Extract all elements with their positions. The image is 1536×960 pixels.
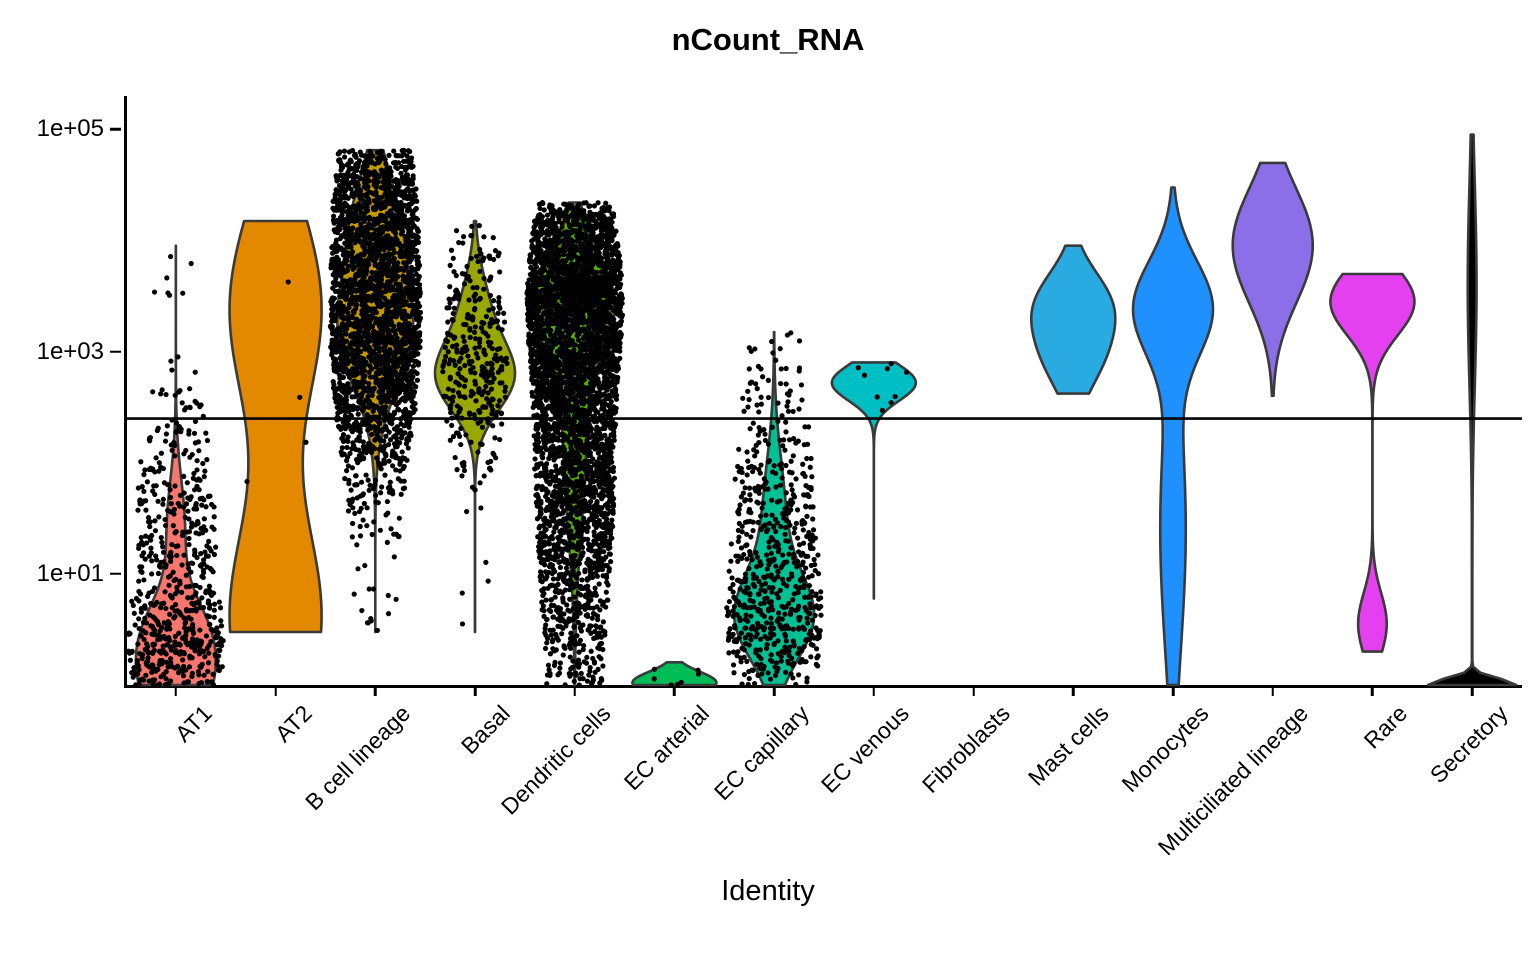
data-point bbox=[206, 601, 211, 606]
data-point bbox=[487, 256, 492, 261]
data-point bbox=[374, 370, 379, 375]
data-point bbox=[207, 494, 212, 499]
data-point bbox=[360, 492, 365, 497]
data-point bbox=[195, 637, 200, 642]
data-point bbox=[346, 315, 351, 320]
violin-body bbox=[1133, 188, 1213, 685]
data-point bbox=[466, 316, 471, 321]
data-point bbox=[499, 411, 504, 416]
data-point bbox=[450, 317, 455, 322]
data-point bbox=[330, 347, 335, 352]
data-point bbox=[394, 153, 399, 158]
data-point bbox=[440, 369, 445, 374]
data-point bbox=[356, 332, 361, 337]
data-point bbox=[406, 176, 411, 181]
data-point bbox=[149, 533, 154, 538]
data-point bbox=[333, 357, 338, 362]
data-point bbox=[374, 455, 379, 460]
data-point bbox=[378, 490, 383, 495]
data-point bbox=[365, 505, 370, 510]
data-point bbox=[161, 672, 166, 677]
data-point bbox=[169, 417, 174, 422]
data-point bbox=[353, 362, 358, 367]
data-point bbox=[176, 631, 181, 636]
data-point bbox=[145, 655, 150, 660]
data-point bbox=[448, 263, 453, 268]
data-point bbox=[405, 236, 410, 241]
data-point bbox=[448, 375, 453, 380]
violin-ec-venous[interactable] bbox=[832, 362, 916, 598]
data-point bbox=[342, 154, 347, 159]
data-point bbox=[464, 509, 469, 514]
data-point bbox=[337, 402, 342, 407]
violin-body bbox=[632, 662, 716, 685]
data-point bbox=[395, 347, 400, 352]
data-point bbox=[414, 258, 419, 263]
data-point bbox=[144, 540, 149, 545]
data-point bbox=[485, 374, 490, 379]
data-point bbox=[338, 167, 343, 172]
data-point bbox=[142, 616, 147, 621]
data-point bbox=[361, 252, 366, 257]
data-point bbox=[363, 360, 368, 365]
data-point bbox=[218, 618, 223, 623]
data-point bbox=[444, 418, 449, 423]
data-point bbox=[472, 412, 477, 417]
data-point bbox=[202, 469, 207, 474]
data-point bbox=[398, 203, 403, 208]
data-point bbox=[364, 264, 369, 269]
data-point bbox=[454, 228, 459, 233]
data-point bbox=[355, 566, 360, 571]
data-point bbox=[393, 207, 398, 212]
data-point bbox=[409, 399, 414, 404]
data-point bbox=[144, 641, 149, 646]
data-point bbox=[218, 642, 223, 647]
data-point bbox=[386, 442, 391, 447]
data-point bbox=[181, 553, 186, 558]
data-point bbox=[495, 358, 500, 363]
data-point bbox=[403, 317, 408, 322]
data-point bbox=[485, 334, 490, 339]
data-point bbox=[395, 221, 400, 226]
data-point bbox=[481, 287, 486, 292]
data-point bbox=[446, 349, 451, 354]
data-point bbox=[441, 362, 446, 367]
data-point bbox=[141, 577, 146, 582]
data-point bbox=[416, 277, 421, 282]
data-point bbox=[370, 248, 375, 253]
data-point bbox=[497, 398, 502, 403]
data-point bbox=[340, 445, 345, 450]
data-point bbox=[405, 335, 410, 340]
data-point bbox=[377, 298, 382, 303]
data-point bbox=[403, 165, 408, 170]
x-tick-mark bbox=[274, 685, 277, 696]
data-point bbox=[152, 648, 157, 653]
data-point bbox=[177, 668, 182, 673]
violin-ec-arterial[interactable] bbox=[632, 662, 716, 685]
data-point bbox=[387, 316, 392, 321]
data-point bbox=[198, 647, 203, 652]
data-point bbox=[379, 466, 384, 471]
data-point bbox=[390, 400, 395, 405]
data-point bbox=[478, 251, 483, 256]
data-point bbox=[472, 306, 477, 311]
data-point bbox=[410, 266, 415, 271]
data-point bbox=[373, 493, 378, 498]
data-point bbox=[456, 296, 461, 301]
data-point bbox=[402, 485, 407, 490]
data-point bbox=[473, 292, 478, 297]
data-point bbox=[406, 148, 411, 153]
data-point bbox=[167, 487, 172, 492]
data-point bbox=[488, 293, 493, 298]
data-point bbox=[157, 460, 162, 465]
data-point bbox=[504, 361, 509, 366]
data-point bbox=[358, 524, 363, 529]
data-point bbox=[405, 250, 410, 255]
data-point bbox=[350, 191, 355, 196]
data-point bbox=[388, 480, 393, 485]
data-point bbox=[335, 386, 340, 391]
data-point bbox=[172, 530, 177, 535]
data-point bbox=[360, 319, 365, 324]
data-point bbox=[385, 499, 390, 504]
data-point bbox=[411, 410, 416, 415]
data-point bbox=[383, 413, 388, 418]
violin-basal[interactable] bbox=[435, 221, 515, 632]
data-point bbox=[486, 416, 491, 421]
data-point bbox=[492, 435, 497, 440]
data-point bbox=[389, 287, 394, 292]
data-point bbox=[170, 605, 175, 610]
data-point bbox=[149, 631, 154, 636]
data-point bbox=[376, 228, 381, 233]
violin-secretory[interactable] bbox=[1428, 135, 1516, 685]
data-point bbox=[382, 314, 387, 319]
data-point bbox=[402, 430, 407, 435]
data-point bbox=[348, 210, 353, 215]
data-point bbox=[445, 319, 450, 324]
data-point bbox=[162, 480, 167, 485]
data-point bbox=[363, 472, 368, 477]
data-point bbox=[207, 614, 212, 619]
data-point bbox=[386, 593, 391, 598]
data-point bbox=[127, 630, 132, 635]
violin-multiciliated-lineage[interactable] bbox=[1233, 163, 1313, 396]
data-point bbox=[408, 417, 413, 422]
x-tick-mark bbox=[873, 685, 876, 696]
data-point bbox=[475, 450, 480, 455]
violin-mast-cells[interactable] bbox=[1031, 246, 1115, 394]
data-point bbox=[331, 199, 336, 204]
data-point bbox=[347, 322, 352, 327]
data-point bbox=[159, 535, 164, 540]
data-point bbox=[380, 302, 385, 307]
data-point bbox=[164, 431, 169, 436]
data-point bbox=[375, 218, 380, 223]
x-tick-label-at1: AT1 bbox=[170, 700, 218, 748]
data-point bbox=[479, 442, 484, 447]
data-point bbox=[147, 467, 152, 472]
data-point bbox=[192, 431, 197, 436]
data-point bbox=[209, 567, 214, 572]
data-point bbox=[409, 380, 414, 385]
data-point bbox=[393, 235, 398, 240]
data-point bbox=[147, 438, 152, 443]
data-point bbox=[385, 540, 390, 545]
data-point bbox=[346, 390, 351, 395]
data-point bbox=[378, 149, 383, 154]
data-point bbox=[368, 283, 373, 288]
data-point bbox=[387, 485, 392, 490]
data-point bbox=[458, 356, 463, 361]
data-point bbox=[210, 672, 215, 677]
data-point bbox=[357, 509, 362, 514]
data-point bbox=[503, 384, 508, 389]
data-point bbox=[468, 233, 473, 238]
data-point bbox=[494, 413, 499, 418]
data-point bbox=[129, 599, 134, 604]
data-point bbox=[377, 324, 382, 329]
violin-body bbox=[832, 362, 916, 598]
data-point bbox=[391, 148, 396, 153]
data-point bbox=[191, 631, 196, 636]
data-point bbox=[379, 484, 384, 489]
violin-rare[interactable] bbox=[1330, 274, 1414, 652]
violin-at2[interactable] bbox=[230, 221, 322, 632]
data-point bbox=[385, 233, 390, 238]
data-point bbox=[379, 277, 384, 282]
data-point bbox=[483, 352, 488, 357]
data-point bbox=[413, 333, 418, 338]
data-point bbox=[354, 232, 359, 237]
data-point bbox=[206, 660, 211, 665]
data-point bbox=[201, 524, 206, 529]
data-point bbox=[379, 268, 384, 273]
data-point bbox=[157, 681, 162, 686]
data-point bbox=[473, 382, 478, 387]
data-point bbox=[217, 599, 222, 604]
data-point bbox=[169, 367, 174, 372]
data-point bbox=[394, 200, 399, 205]
data-point bbox=[146, 590, 151, 595]
data-point bbox=[149, 571, 154, 576]
data-point bbox=[486, 308, 491, 313]
data-point bbox=[405, 330, 410, 335]
data-point bbox=[467, 278, 472, 283]
data-point bbox=[197, 487, 202, 492]
data-point bbox=[339, 195, 344, 200]
data-point bbox=[460, 621, 465, 626]
data-point bbox=[341, 420, 346, 425]
data-point bbox=[363, 419, 368, 424]
data-point bbox=[381, 438, 386, 443]
data-point bbox=[151, 643, 156, 648]
data-point bbox=[174, 553, 179, 558]
data-point bbox=[346, 220, 351, 225]
data-point bbox=[476, 421, 481, 426]
data-point bbox=[377, 349, 382, 354]
data-point bbox=[150, 488, 155, 493]
data-point bbox=[375, 289, 380, 294]
data-point bbox=[139, 655, 144, 660]
data-point bbox=[360, 408, 365, 413]
data-point bbox=[366, 441, 371, 446]
data-point bbox=[155, 667, 160, 672]
data-point bbox=[207, 546, 212, 551]
data-point bbox=[386, 459, 391, 464]
data-point bbox=[204, 633, 209, 638]
data-point bbox=[135, 641, 140, 646]
data-point bbox=[406, 193, 411, 198]
data-point bbox=[182, 490, 187, 495]
data-point bbox=[212, 608, 217, 613]
data-point bbox=[391, 178, 396, 183]
data-point bbox=[370, 153, 375, 158]
data-point bbox=[354, 174, 359, 179]
data-point bbox=[173, 544, 178, 549]
data-point bbox=[544, 640, 549, 645]
data-point bbox=[378, 354, 383, 359]
data-point bbox=[372, 257, 377, 262]
data-point bbox=[398, 478, 403, 483]
data-point bbox=[169, 594, 174, 599]
data-point bbox=[404, 416, 409, 421]
data-point bbox=[388, 526, 393, 531]
data-point bbox=[395, 274, 400, 279]
data-point bbox=[398, 379, 403, 384]
data-point bbox=[472, 487, 477, 492]
data-point bbox=[159, 451, 164, 456]
data-point bbox=[139, 633, 144, 638]
data-point bbox=[406, 362, 411, 367]
data-point bbox=[382, 349, 387, 354]
data-point bbox=[408, 340, 413, 345]
data-point bbox=[416, 341, 421, 346]
data-point bbox=[362, 342, 367, 347]
data-point bbox=[541, 608, 546, 613]
x-tick-mark bbox=[673, 685, 676, 696]
data-point bbox=[334, 417, 339, 422]
data-point bbox=[361, 331, 366, 336]
data-point bbox=[493, 455, 498, 460]
data-point bbox=[160, 502, 165, 507]
data-point bbox=[139, 535, 144, 540]
data-point bbox=[402, 353, 407, 358]
data-point bbox=[382, 171, 387, 176]
data-point bbox=[168, 573, 173, 578]
data-point bbox=[339, 217, 344, 222]
data-point bbox=[367, 488, 372, 493]
data-point bbox=[143, 673, 148, 678]
data-point bbox=[175, 428, 180, 433]
data-point bbox=[398, 416, 403, 421]
data-point bbox=[365, 307, 370, 312]
data-point bbox=[468, 335, 473, 340]
data-point bbox=[165, 290, 170, 295]
data-point bbox=[168, 359, 173, 364]
data-point bbox=[472, 330, 477, 335]
data-point bbox=[169, 501, 174, 506]
data-point bbox=[389, 338, 394, 343]
data-point bbox=[398, 360, 403, 365]
data-point bbox=[163, 523, 168, 528]
data-point bbox=[196, 439, 201, 444]
data-point bbox=[358, 196, 363, 201]
data-point bbox=[199, 574, 204, 579]
data-point bbox=[462, 384, 467, 389]
data-point bbox=[365, 208, 370, 213]
data-point bbox=[384, 287, 389, 292]
data-point bbox=[366, 224, 371, 229]
data-point bbox=[351, 372, 356, 377]
data-point bbox=[356, 261, 361, 266]
data-point bbox=[196, 448, 201, 453]
data-point bbox=[385, 301, 390, 306]
data-point bbox=[392, 262, 397, 267]
data-point bbox=[141, 550, 146, 555]
data-point bbox=[148, 538, 153, 543]
data-point bbox=[547, 673, 552, 678]
data-point bbox=[355, 495, 360, 500]
data-point bbox=[380, 202, 385, 207]
data-point bbox=[486, 579, 491, 584]
data-point bbox=[337, 246, 342, 251]
data-point bbox=[400, 148, 405, 153]
violin-body bbox=[1031, 246, 1115, 394]
data-point bbox=[214, 662, 219, 667]
data-point bbox=[487, 465, 492, 470]
data-point bbox=[415, 351, 420, 356]
data-point bbox=[205, 679, 210, 684]
data-point bbox=[462, 468, 467, 473]
data-point bbox=[409, 234, 414, 239]
data-point bbox=[343, 226, 348, 231]
violin-monocytes[interactable] bbox=[1133, 188, 1213, 685]
data-point bbox=[384, 374, 389, 379]
data-point bbox=[338, 311, 343, 316]
data-point bbox=[347, 149, 352, 154]
data-point bbox=[458, 442, 463, 447]
data-point bbox=[482, 473, 487, 478]
data-point bbox=[164, 660, 169, 665]
data-point bbox=[346, 415, 351, 420]
data-point bbox=[141, 472, 146, 477]
data-point bbox=[348, 277, 353, 282]
data-point bbox=[499, 421, 504, 426]
data-point bbox=[208, 639, 213, 644]
data-point bbox=[188, 640, 193, 645]
data-point bbox=[193, 419, 198, 424]
data-point bbox=[391, 217, 396, 222]
data-point bbox=[380, 405, 385, 410]
data-point bbox=[163, 564, 168, 569]
data-point bbox=[385, 334, 390, 339]
data-point bbox=[385, 185, 390, 190]
data-point bbox=[386, 179, 391, 184]
data-point bbox=[353, 447, 358, 452]
data-point bbox=[186, 542, 191, 547]
data-point bbox=[191, 476, 196, 481]
data-point bbox=[477, 340, 482, 345]
data-point bbox=[201, 605, 206, 610]
data-point bbox=[335, 175, 340, 180]
data-point bbox=[348, 243, 353, 248]
data-point bbox=[386, 611, 391, 616]
data-point bbox=[451, 311, 456, 316]
